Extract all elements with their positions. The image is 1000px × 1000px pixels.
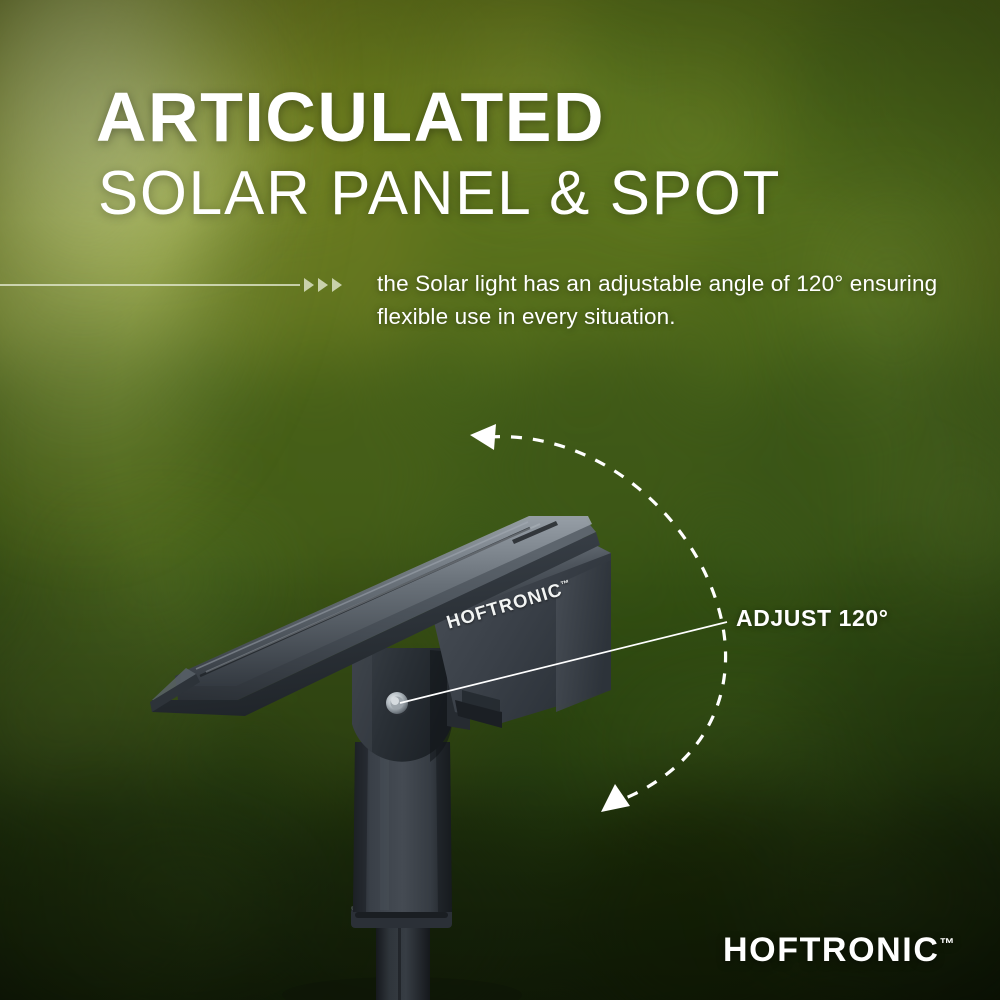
chevron-right-icon xyxy=(318,278,328,292)
pole-stake xyxy=(376,922,430,1000)
decorative-rule xyxy=(0,277,345,293)
product-pole xyxy=(351,742,452,1000)
chevron-right-icon xyxy=(332,278,342,292)
page-subtitle: SOLAR PANEL & SPOT xyxy=(98,163,781,225)
body-description: the Solar light has an adjustable angle … xyxy=(377,267,957,334)
brand-name: HOFTRONIC xyxy=(723,931,940,969)
rule-line xyxy=(0,284,300,286)
product-marketing-image: HOFTRONIC™ ARTICULATED SOLAR PANEL & SPO… xyxy=(0,0,1000,1000)
adjust-callout-label: ADJUST 120° xyxy=(736,605,889,632)
trademark-symbol: ™ xyxy=(940,936,955,953)
chevron-right-icon xyxy=(304,278,314,292)
brand-logo: HOFTRONIC™ xyxy=(723,931,955,970)
page-title: ARTICULATED xyxy=(96,82,605,152)
